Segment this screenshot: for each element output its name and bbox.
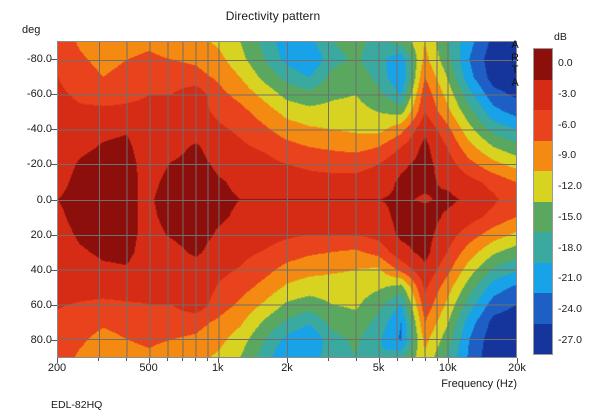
- colorbar-band: [534, 232, 552, 263]
- colorbar-tick-label: -21.0: [558, 272, 582, 284]
- x-axis-tick-label: 10k: [439, 362, 457, 374]
- x-axis-tick-mark: [448, 358, 449, 363]
- colorbar-tick-label: -18.0: [558, 242, 582, 254]
- colorbar-tick-label: -3.0: [558, 88, 576, 100]
- x-axis-tick-label: 1k: [212, 362, 224, 374]
- x-axis-tick-mark: [218, 358, 219, 363]
- watermark-letter: A: [508, 39, 522, 52]
- colorbar-tick-label: -24.0: [558, 303, 582, 315]
- x-axis-title: Frequency (Hz): [441, 378, 517, 390]
- watermark-letter: R: [508, 52, 522, 65]
- x-axis-tick-mark: [517, 358, 518, 363]
- y-axis-tick-mark: [51, 94, 57, 95]
- colorbar-tick-label: -15.0: [558, 211, 582, 223]
- x-axis-tick-label: 500: [139, 362, 157, 374]
- colorbar-band: [534, 263, 552, 294]
- colorbar-tick-label: -9.0: [558, 149, 576, 161]
- x-axis-minor-tick-mark: [207, 358, 208, 361]
- y-axis-tick-label: -20.0: [27, 158, 52, 170]
- y-axis-tick-mark: [51, 235, 57, 236]
- colorbar-band: [534, 293, 552, 324]
- colorbar-band: [534, 49, 552, 80]
- x-axis-tick-label: 200: [48, 362, 66, 374]
- x-axis-tick-mark: [57, 358, 58, 363]
- x-axis-tick-mark: [287, 358, 288, 363]
- colorbar-band: [534, 202, 552, 233]
- device-label: EDL-82HQ: [51, 399, 102, 411]
- colorbar-band: [534, 324, 552, 355]
- y-axis-tick-mark: [51, 200, 57, 201]
- colorbar-tick-label: -6.0: [558, 119, 576, 131]
- plot-area: [57, 41, 517, 358]
- colorbar-tick-label: -27.0: [558, 334, 582, 346]
- y-axis-tick-label: -40.0: [27, 123, 52, 135]
- colorbar-band: [534, 110, 552, 141]
- colorbar-band: [534, 141, 552, 172]
- colorbar-band: [534, 80, 552, 111]
- x-axis-tick-label: 5k: [373, 362, 385, 374]
- y-axis-tick-mark: [51, 270, 57, 271]
- watermark-letter: T: [508, 64, 522, 77]
- colorbar-tick-label: 0.0: [558, 57, 573, 69]
- y-axis-tick-mark: [51, 340, 57, 341]
- x-axis-tick-mark: [149, 358, 150, 363]
- x-axis-tick-mark: [379, 358, 380, 363]
- x-axis-tick-label: 20k: [508, 362, 526, 374]
- x-axis-minor-tick-mark: [126, 358, 127, 361]
- x-axis-minor-tick-mark: [328, 358, 329, 361]
- y-axis-tick-label: 20.0: [31, 229, 52, 241]
- arta-watermark: ARTA: [508, 39, 522, 89]
- x-axis-minor-tick-mark: [167, 358, 168, 361]
- x-axis-minor-tick-mark: [397, 358, 398, 361]
- x-axis-tick-label: 2k: [281, 362, 293, 374]
- y-axis-tick-mark: [51, 305, 57, 306]
- x-axis-minor-tick-mark: [195, 358, 196, 361]
- y-axis-tick-mark: [51, 164, 57, 165]
- x-axis-minor-tick-mark: [437, 358, 438, 361]
- y-axis-tick-label: 80.0: [31, 334, 52, 346]
- x-axis-minor-tick-mark: [98, 358, 99, 361]
- colorbar-tick-label: -12.0: [558, 180, 582, 192]
- x-axis-minor-tick-mark: [425, 358, 426, 361]
- y-axis-unit-label: deg: [22, 24, 40, 36]
- y-axis-tick-label: -60.0: [27, 88, 52, 100]
- y-axis-tick-label: 60.0: [31, 299, 52, 311]
- y-axis-tick-label: -80.0: [27, 53, 52, 65]
- colorbar-band: [534, 171, 552, 202]
- x-axis-minor-tick-mark: [182, 358, 183, 361]
- x-axis-minor-tick-mark: [356, 358, 357, 361]
- colorbar-unit-label: dB: [554, 31, 567, 43]
- y-axis-tick-mark: [51, 59, 57, 60]
- colorbar-legend: [533, 48, 553, 355]
- y-axis-tick-mark: [51, 129, 57, 130]
- page-title: Directivity pattern: [0, 9, 573, 23]
- y-axis-tick-label: 40.0: [31, 264, 52, 276]
- plot-gridlines: [58, 42, 516, 357]
- watermark-letter: A: [508, 77, 522, 90]
- y-axis-tick-label: 0.0: [37, 194, 52, 206]
- x-axis-minor-tick-mark: [412, 358, 413, 361]
- directivity-pattern-figure: Directivity pattern deg -80.0-60.0-40.0-…: [0, 0, 600, 419]
